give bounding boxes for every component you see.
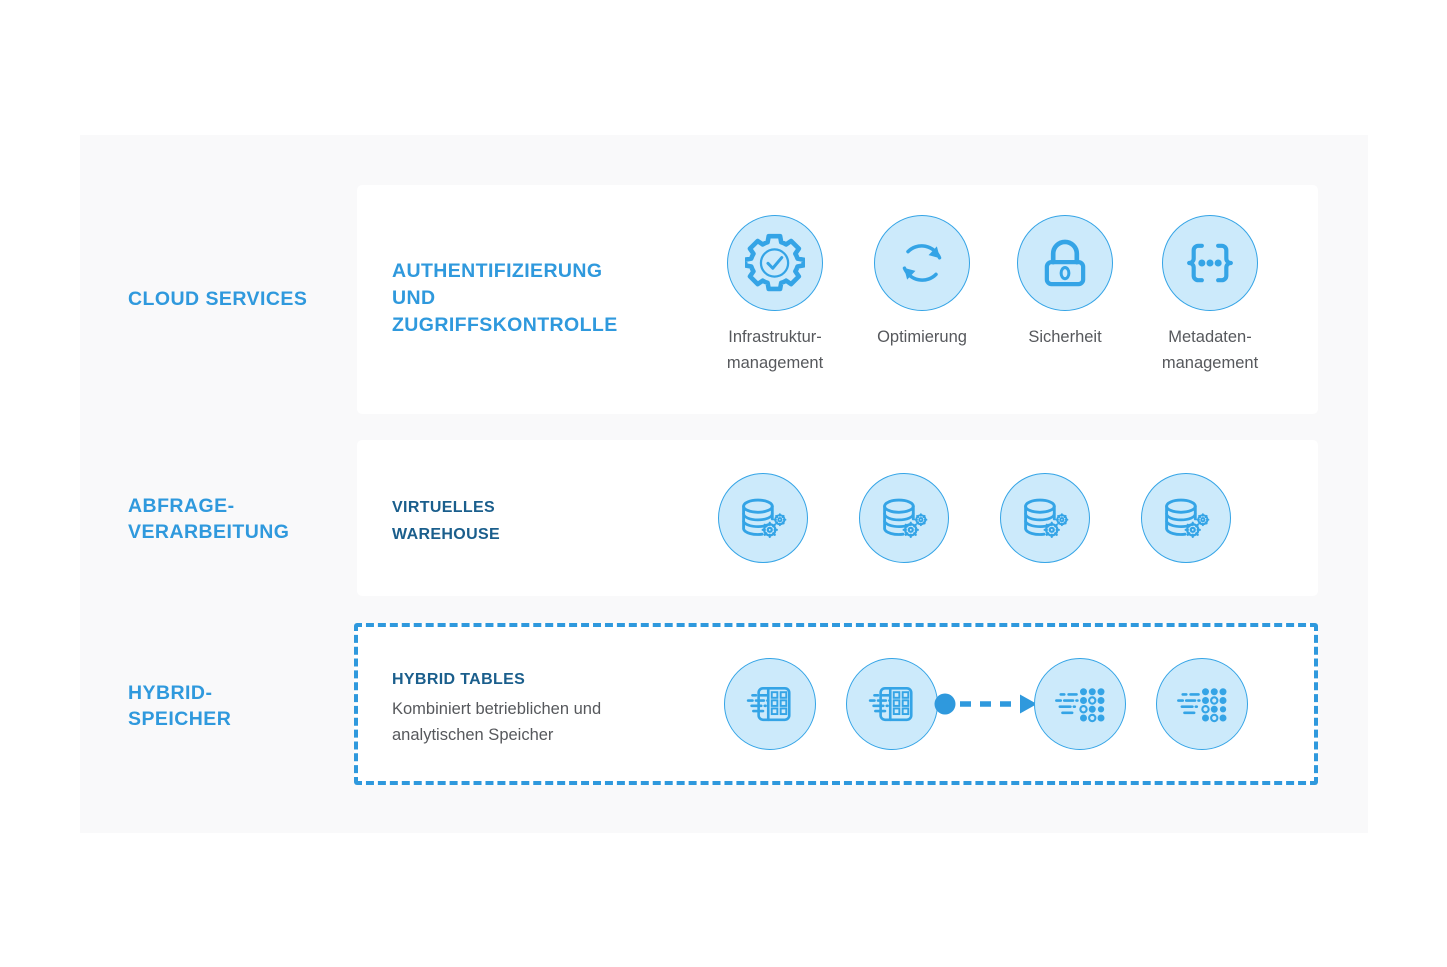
- hybrid-flow-connector: [934, 690, 1044, 718]
- icon-circle-optimierung: [874, 215, 970, 311]
- icon-circle-hybrid-row-store-2: [846, 658, 938, 750]
- icon-circle-virtual-warehouse-4: [1141, 473, 1231, 563]
- tile-virtual-warehouse-1[interactable]: [718, 473, 808, 576]
- icon-circle-sicherheit: [1017, 215, 1113, 311]
- curly-braces-dots-icon: [1181, 234, 1239, 292]
- lock-icon: [1038, 236, 1092, 290]
- icon-circle-hybrid-column-store-1: [1034, 658, 1126, 750]
- heading-hybrid-tables: HYBRID TABLES: [392, 669, 692, 691]
- tile-virtual-warehouse-2[interactable]: [859, 473, 949, 576]
- icon-circle-virtual-warehouse-2: [859, 473, 949, 563]
- tile-hybrid-row-store-1[interactable]: [724, 658, 816, 763]
- tile-hybrid-column-store-2[interactable]: [1156, 658, 1248, 763]
- icon-circle-virtual-warehouse-1: [718, 473, 808, 563]
- database-gears-icon: [1018, 491, 1072, 545]
- tile-infrastrukturmanagement[interactable]: Infrastruktur- management: [690, 215, 860, 376]
- row-label-abfrage-verarbeitung: ABFRAGE- VERARBEITUNG: [128, 493, 289, 545]
- icon-circle-hybrid-column-store-2: [1156, 658, 1248, 750]
- database-gears-icon: [1159, 491, 1213, 545]
- icon-circle-infrastrukturmanagement: [727, 215, 823, 311]
- tile-virtual-warehouse-3[interactable]: [1000, 473, 1090, 576]
- refresh-cycle-icon: [894, 235, 950, 291]
- icon-circle-hybrid-row-store-1: [724, 658, 816, 750]
- tile-virtual-warehouse-4[interactable]: [1141, 473, 1231, 576]
- column-store-dots-icon: [1052, 676, 1108, 732]
- gear-check-icon: [745, 233, 805, 293]
- tile-metadatenmanagement[interactable]: Metadaten- management: [1125, 215, 1295, 376]
- database-gears-icon: [736, 491, 790, 545]
- dotted-arrow-icon: [934, 690, 1044, 718]
- subtext-hybrid-tables: Kombiniert betrieblichen und analytische…: [392, 696, 682, 748]
- icon-circle-metadatenmanagement: [1162, 215, 1258, 311]
- caption-infrastrukturmanagement: Infrastruktur- management: [690, 324, 860, 376]
- database-gears-icon: [877, 491, 931, 545]
- tile-hybrid-column-store-1[interactable]: [1034, 658, 1126, 763]
- icon-circle-virtual-warehouse-3: [1000, 473, 1090, 563]
- row-store-grid-icon: [742, 676, 798, 732]
- heading-authentifizierung: AUTHENTIFIZIERUNG UND ZUGRIFFSKONTROLLE: [392, 258, 692, 339]
- tile-hybrid-row-store-2[interactable]: [846, 658, 938, 763]
- column-store-dots-icon: [1174, 676, 1230, 732]
- caption-metadatenmanagement: Metadaten- management: [1125, 324, 1295, 376]
- heading-virtuelles-warehouse: VIRTUELLES WAREHOUSE: [392, 494, 692, 548]
- row-label-hybrid-speicher: HYBRID- SPEICHER: [128, 680, 231, 732]
- architecture-diagram: CLOUD SERVICES AUTHENTIFIZIERUNG UND ZUG…: [0, 0, 1447, 967]
- row-label-cloud-services: CLOUD SERVICES: [128, 286, 307, 312]
- row-store-grid-icon: [864, 676, 920, 732]
